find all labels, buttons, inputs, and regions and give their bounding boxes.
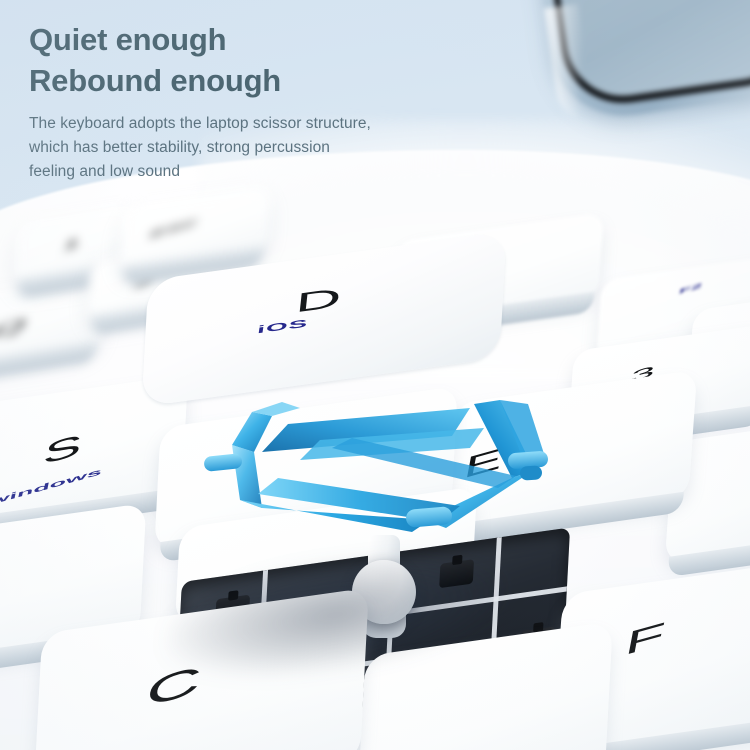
hero-keycap-top bbox=[142, 231, 507, 407]
headline: Quiet enough Rebound enough bbox=[29, 20, 499, 102]
marketing-copy: Quiet enough Rebound enough The keyboard… bbox=[29, 20, 499, 184]
keycap-e-legend: E bbox=[461, 440, 506, 485]
keycap-s-legend: S bbox=[41, 426, 85, 471]
body-line-1: The keyboard adopts the laptop scissor s… bbox=[29, 115, 371, 132]
keycap-1-legend: 1 bbox=[61, 235, 83, 254]
body-line-3: feeling and low sound bbox=[29, 163, 180, 180]
keycap-f-legend: F bbox=[622, 615, 668, 664]
keycap-q-legend: Q bbox=[0, 314, 28, 342]
headline-line-2: Rebound enough bbox=[29, 63, 281, 98]
body-copy: The keyboard adopts the laptop scissor s… bbox=[29, 112, 449, 185]
headline-line-1: Quiet enough bbox=[29, 22, 226, 57]
keycap-f2-sublegend: F2 bbox=[678, 282, 703, 296]
keycap-esc-legend: esc bbox=[148, 215, 199, 240]
body-line-2: which has better stability, strong percu… bbox=[29, 139, 330, 156]
hero-keycap: D iOS bbox=[148, 255, 500, 383]
product-poster: Quiet enough Rebound enough The keyboard… bbox=[0, 0, 750, 750]
